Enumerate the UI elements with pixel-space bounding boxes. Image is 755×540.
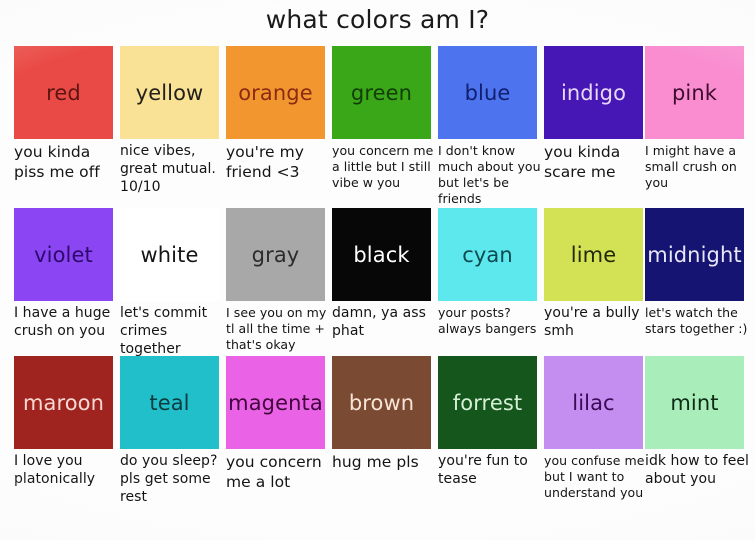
color-name-orange: orange — [238, 81, 313, 105]
color-cell-red: redyou kinda piss me off — [14, 46, 120, 183]
color-name-yellow: yellow — [136, 81, 204, 105]
color-cell-green: greenyou concern me a little but I still… — [332, 46, 438, 191]
color-swatch-mint: mint — [645, 356, 744, 449]
color-cell-black: blackdamn, ya ass phat — [332, 208, 438, 341]
color-swatch-pink: pink — [645, 46, 744, 139]
color-swatch-violet: violet — [14, 208, 113, 301]
color-cell-yellow: yellownice vibes, great mutual. 10/10 — [120, 46, 226, 197]
color-cell-pink: pinkI might have a small crush on you — [645, 46, 751, 191]
color-name-gray: gray — [252, 243, 300, 267]
color-swatch-maroon: maroon — [14, 356, 113, 449]
caption-maroon: I love you platonically — [14, 453, 118, 489]
color-name-lime: lime — [571, 243, 616, 267]
caption-black: damn, ya ass phat — [332, 305, 436, 341]
color-swatch-cyan: cyan — [438, 208, 537, 301]
caption-teal: do you sleep? pls get some rest — [120, 453, 224, 507]
color-swatch-green: green — [332, 46, 431, 139]
color-name-violet: violet — [34, 243, 93, 267]
color-swatch-yellow: yellow — [120, 46, 219, 139]
color-name-cyan: cyan — [462, 243, 513, 267]
caption-green: you concern me a little but I still vibe… — [332, 143, 436, 191]
color-cell-orange: orangeyou're my friend <3 — [226, 46, 332, 183]
color-cell-midnight: midnightlet's watch the stars together :… — [645, 208, 751, 337]
color-swatch-black: black — [332, 208, 431, 301]
color-name-maroon: maroon — [23, 391, 104, 415]
caption-midnight: let's watch the stars together :) — [645, 305, 749, 337]
color-swatch-orange: orange — [226, 46, 325, 139]
color-name-teal: teal — [149, 391, 189, 415]
caption-blue: I don't know much about you but let's be… — [438, 143, 542, 207]
color-swatch-gray: gray — [226, 208, 325, 301]
color-swatch-brown: brown — [332, 356, 431, 449]
color-cell-indigo: indigoyou kinda scare me — [544, 46, 650, 183]
color-cell-mint: mintidk how to feel about you — [645, 356, 751, 489]
color-swatch-midnight: midnight — [645, 208, 744, 301]
caption-pink: I might have a small crush on you — [645, 143, 749, 191]
caption-mint: idk how to feel about you — [645, 453, 749, 489]
color-name-pink: pink — [672, 81, 717, 105]
color-name-indigo: indigo — [561, 81, 626, 105]
color-swatch-red: red — [14, 46, 113, 139]
caption-orange: you're my friend <3 — [226, 143, 330, 183]
color-name-midnight: midnight — [647, 243, 741, 267]
color-name-brown: brown — [349, 391, 414, 415]
color-name-green: green — [351, 81, 412, 105]
color-cell-gray: grayI see you on my tl all the time + th… — [226, 208, 332, 353]
caption-indigo: you kinda scare me — [544, 143, 648, 183]
caption-white: let's commit crimes together — [120, 305, 224, 359]
color-name-mint: mint — [670, 391, 718, 415]
caption-forrest: you're fun to tease — [438, 453, 542, 489]
caption-brown: hug me pls — [332, 453, 436, 473]
caption-lime: you're a bully smh — [544, 305, 648, 341]
color-swatch-lilac: lilac — [544, 356, 643, 449]
color-cell-cyan: cyanyour posts? always bangers — [438, 208, 544, 337]
color-chart-grid: redyou kinda piss me offyellownice vibes… — [0, 44, 755, 540]
color-swatch-lime: lime — [544, 208, 643, 301]
caption-red: you kinda piss me off — [14, 143, 118, 183]
color-cell-white: whitelet's commit crimes together — [120, 208, 226, 359]
caption-violet: I have a huge crush on you — [14, 305, 118, 341]
caption-magenta: you concern me a lot — [226, 453, 330, 493]
color-swatch-forrest: forrest — [438, 356, 537, 449]
color-name-red: red — [46, 81, 81, 105]
color-name-lilac: lilac — [572, 391, 614, 415]
page-title: what colors am I? — [0, 2, 755, 38]
color-name-magenta: magenta — [228, 391, 323, 415]
color-cell-magenta: magentayou concern me a lot — [226, 356, 332, 493]
color-cell-lilac: lilacyou confuse me but I want to unders… — [544, 356, 650, 501]
color-cell-violet: violetI have a huge crush on you — [14, 208, 120, 341]
color-name-blue: blue — [465, 81, 511, 105]
color-swatch-magenta: magenta — [226, 356, 325, 449]
color-swatch-blue: blue — [438, 46, 537, 139]
caption-lilac: you confuse me but I want to understand … — [544, 453, 648, 501]
color-cell-teal: tealdo you sleep? pls get some rest — [120, 356, 226, 507]
color-swatch-indigo: indigo — [544, 46, 643, 139]
caption-gray: I see you on my tl all the time + that's… — [226, 305, 330, 353]
caption-yellow: nice vibes, great mutual. 10/10 — [120, 143, 224, 197]
color-name-black: black — [353, 243, 409, 267]
color-name-white: white — [141, 243, 199, 267]
color-cell-brown: brownhug me pls — [332, 356, 438, 473]
color-swatch-teal: teal — [120, 356, 219, 449]
color-name-forrest: forrest — [453, 391, 522, 415]
color-cell-maroon: maroonI love you platonically — [14, 356, 120, 489]
color-cell-forrest: forrestyou're fun to tease — [438, 356, 544, 489]
caption-cyan: your posts? always bangers — [438, 305, 542, 337]
color-cell-lime: limeyou're a bully smh — [544, 208, 650, 341]
color-swatch-white: white — [120, 208, 219, 301]
color-cell-blue: blueI don't know much about you but let'… — [438, 46, 544, 207]
